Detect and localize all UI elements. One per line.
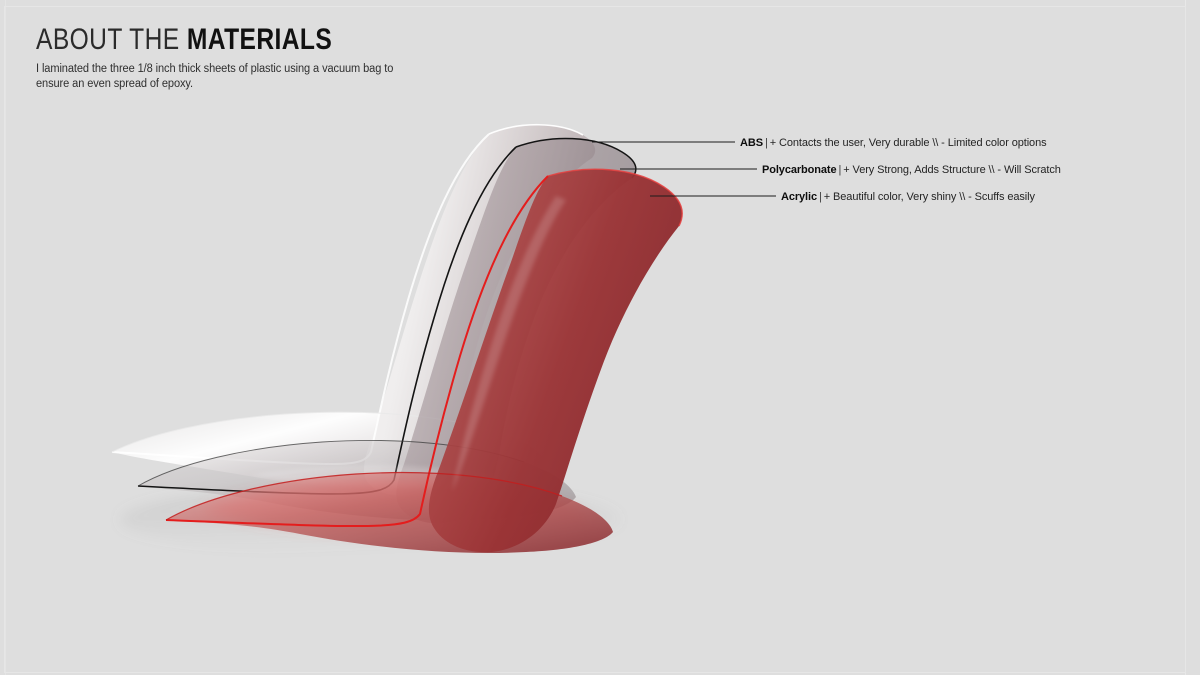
callout-abs-name: ABS [740,137,763,149]
callout-acrylic: Acrylic|+ Beautiful color, Very shiny \\… [781,189,1035,205]
callout-acrylic-description: + Beautiful color, Very shiny \\ - Scuff… [824,191,1035,203]
callout-abs: ABS|+ Contacts the user, Very durable \\… [740,135,1047,151]
header: ABOUT THE MATERIALS I laminated the thre… [36,24,596,91]
callout-polycarbonate: Polycarbonate|+ Very Strong, Adds Struct… [762,162,1061,178]
callout-abs-description: + Contacts the user, Very durable \\ - L… [770,137,1047,149]
callout-acrylic-name: Acrylic [781,191,817,203]
page-title-bold: MATERIALS [187,23,332,56]
callout-abs-separator: | [763,137,770,149]
page-title: ABOUT THE MATERIALS [36,24,495,56]
callout-acrylic-separator: | [817,191,824,203]
slide-canvas: ABOUT THE MATERIALS I laminated the thre… [0,0,1200,675]
page-title-light: ABOUT THE [36,23,187,56]
page-subtitle: I laminated the three 1/8 inch thick she… [36,62,401,91]
exploded-chair-shell-illustration [0,0,1200,675]
callout-polycarbonate-name: Polycarbonate [762,164,837,176]
callout-polycarbonate-description: + Very Strong, Adds Structure \\ - Will … [843,164,1061,176]
